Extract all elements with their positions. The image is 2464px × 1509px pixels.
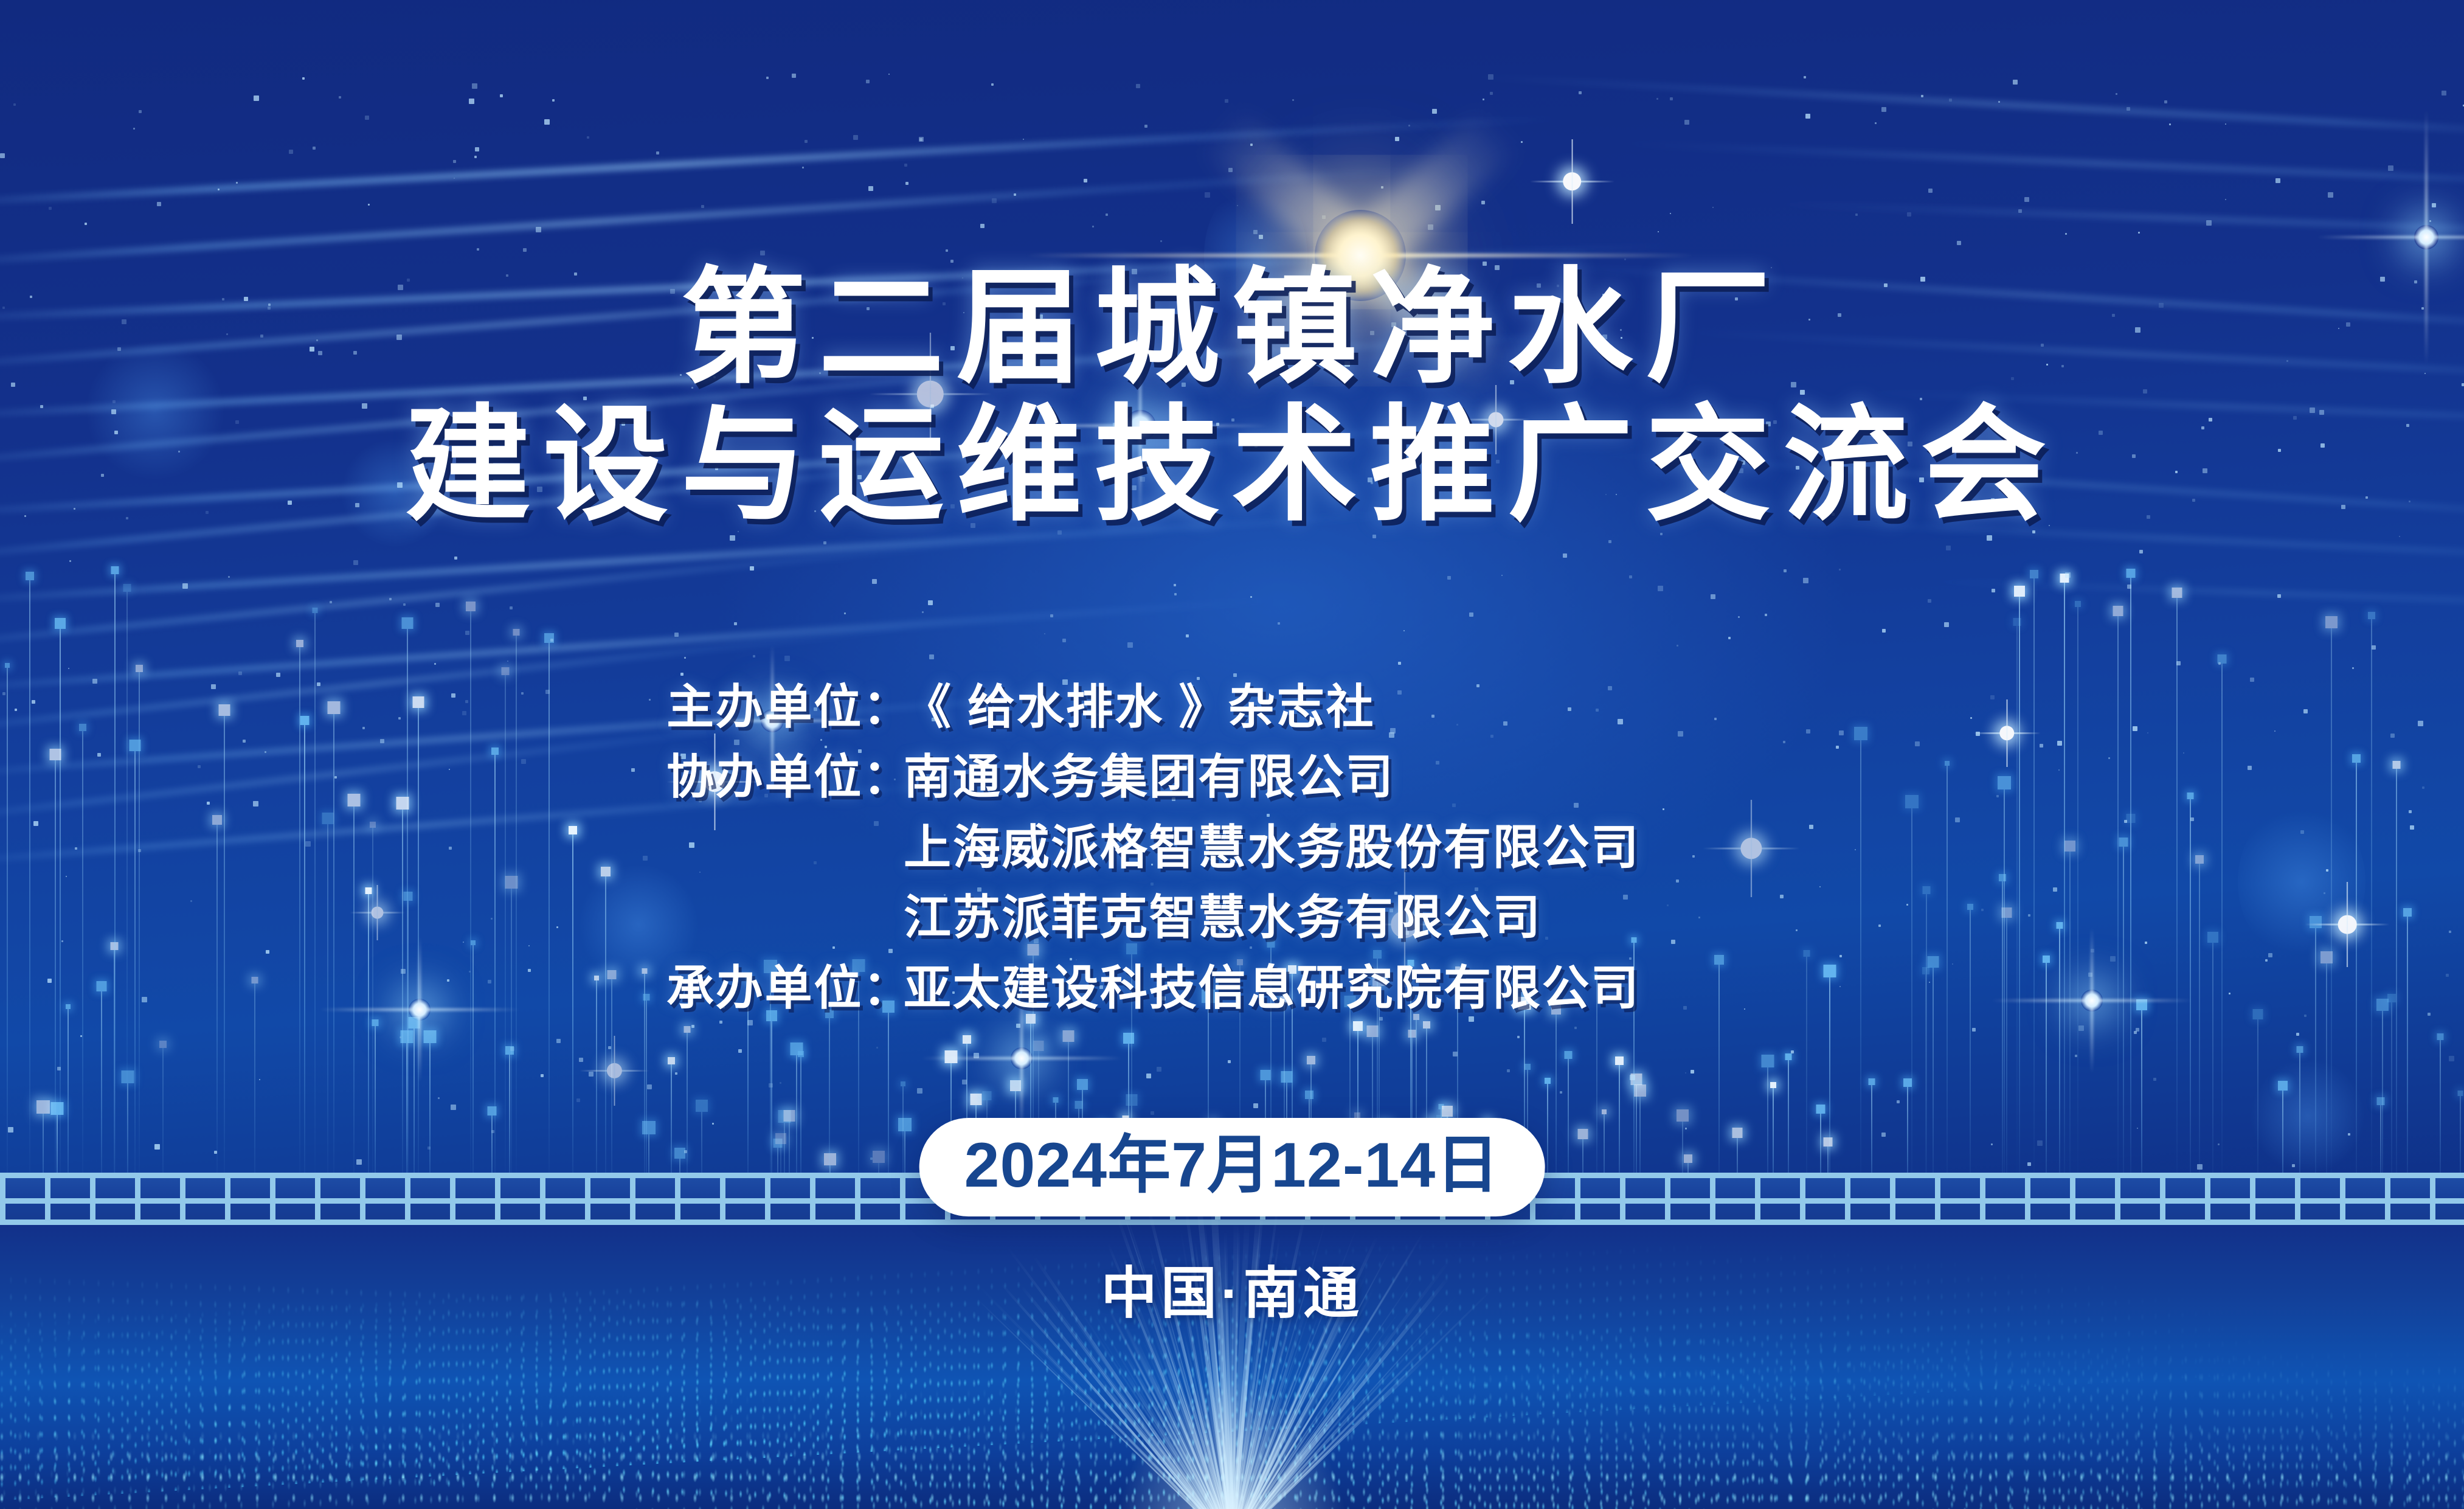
particle (1972, 1028, 1976, 1032)
particle (1521, 141, 1523, 143)
particle (1805, 114, 1810, 119)
particle (2139, 550, 2143, 553)
particle (474, 156, 477, 158)
particle (438, 1097, 440, 1099)
railing-post (540, 1173, 545, 1225)
particle (454, 178, 455, 179)
particle (1044, 633, 1045, 634)
light-pillar (646, 997, 647, 1202)
page-title: 第二届城镇净水厂 建设与运维技术推广交流会 (0, 262, 2464, 532)
particle (1685, 1128, 1687, 1129)
particle (1228, 1060, 1231, 1063)
particle (1629, 575, 1632, 578)
organizer-label (666, 883, 904, 952)
particle (769, 1083, 773, 1088)
particle (469, 99, 474, 104)
particle (1728, 637, 1731, 639)
particle (218, 189, 220, 190)
particle (1174, 584, 1176, 586)
particle (477, 248, 479, 251)
particle (139, 110, 142, 113)
particle (2078, 1025, 2084, 1031)
sparkle-icon (1530, 139, 1614, 224)
particle (738, 1049, 742, 1053)
particle (2116, 93, 2117, 95)
particle (1186, 634, 1189, 637)
particle (922, 611, 924, 613)
particle (2352, 667, 2354, 669)
light-streak (1915, 578, 2464, 607)
organizer-row: 江苏派菲克智慧水务有限公司 (666, 883, 1798, 952)
organizer-row: 协办单位： 南通水务集团有限公司 (666, 742, 1798, 812)
particle (853, 135, 858, 140)
particle (870, 1157, 873, 1160)
organizer-label: 主办单位： (666, 672, 904, 742)
organizer-value: 南通水务集团有限公司 (904, 742, 1798, 812)
railing-post (855, 1173, 860, 1225)
particle (69, 560, 71, 562)
particle (784, 656, 790, 661)
railing-post (2340, 1173, 2345, 1225)
railing-post (405, 1173, 410, 1225)
particle (453, 160, 456, 163)
particle (1803, 578, 1808, 583)
particle (712, 1123, 714, 1125)
particle (2328, 192, 2333, 198)
particle (608, 1046, 611, 1049)
particle (2137, 1128, 2138, 1129)
particle (451, 1105, 456, 1110)
organizers-block: 主办单位： 《 给水排水 》杂志社 协办单位： 南通水务集团有限公司 上海威派格… (0, 672, 2464, 1023)
organizer-label (666, 813, 904, 883)
particle (552, 99, 555, 102)
particle (980, 224, 985, 228)
railing-post (45, 1173, 50, 1225)
particle (2138, 232, 2140, 234)
particle (684, 1150, 687, 1153)
particle (823, 541, 826, 544)
bokeh-blob (2250, 1058, 2365, 1174)
particle (1092, 226, 1094, 227)
particle (587, 136, 589, 139)
particle (802, 167, 804, 168)
railing-post (2160, 1173, 2165, 1225)
particle (1517, 1036, 1520, 1038)
title-line-1: 第二届城镇净水厂 (0, 262, 2464, 394)
particle (1630, 1075, 1635, 1080)
conference-poster: 第二届城镇净水厂 建设与运维技术推广交流会 主办单位： 《 给水排水 》杂志社 … (0, 0, 2464, 1509)
particle (475, 147, 479, 151)
particle (49, 207, 52, 210)
railing-post (810, 1173, 815, 1225)
particle (1157, 1067, 1161, 1072)
particle (0, 153, 5, 158)
railing-post (90, 1173, 95, 1225)
particle (1469, 612, 1473, 617)
particle (2127, 107, 2130, 111)
particle (1259, 235, 1263, 239)
particle (2399, 536, 2400, 537)
particle (1928, 599, 1931, 603)
railing-post (2430, 1173, 2435, 1225)
particle (454, 557, 457, 560)
particle (228, 576, 230, 578)
particle (656, 151, 659, 154)
particle (730, 535, 735, 541)
particle (766, 77, 769, 79)
particle (792, 74, 796, 78)
railing-post (135, 1173, 140, 1225)
railing-post (1890, 1173, 1895, 1225)
particle (675, 1072, 677, 1075)
railing-post (1800, 1173, 1805, 1225)
railing-post (2115, 1173, 2120, 1225)
particle (2027, 1162, 2031, 1166)
railing-post (1935, 1173, 1940, 1225)
particle (2277, 594, 2281, 598)
particle (1136, 84, 1140, 88)
railing-post (1710, 1173, 1715, 1225)
particle (57, 1067, 61, 1070)
particle (2197, 1164, 2203, 1170)
particle (919, 137, 924, 142)
particle (133, 128, 135, 130)
railing-post (270, 1173, 275, 1225)
particle (579, 1058, 583, 1062)
particle (1563, 553, 1567, 558)
particle (434, 663, 436, 665)
railing-post (1845, 1173, 1850, 1225)
particle (946, 249, 948, 252)
particle (1987, 535, 1992, 541)
particle (523, 248, 527, 252)
particle (1435, 205, 1441, 210)
particle (1322, 1038, 1326, 1042)
particle (1490, 92, 1493, 95)
particle (236, 182, 238, 184)
particle (2388, 165, 2393, 171)
railing-post (495, 1173, 500, 1225)
particle (1228, 168, 1233, 172)
particle (2153, 1078, 2156, 1081)
particle (302, 77, 305, 80)
particle (2169, 123, 2171, 125)
particle (556, 1039, 561, 1043)
particle (500, 94, 503, 97)
particle (1998, 101, 2000, 103)
particle (1151, 1111, 1154, 1115)
particle (157, 202, 161, 206)
particle (1205, 192, 1210, 198)
organizer-label: 协办单位： (666, 742, 904, 812)
particle (2275, 178, 2280, 183)
railing-post (450, 1173, 455, 1225)
railing-post (900, 1173, 905, 1225)
railing-post (1620, 1173, 1625, 1225)
particle (1791, 1050, 1794, 1053)
railing-post (2295, 1173, 2300, 1225)
particle (2065, 572, 2071, 578)
organizer-label: 承办单位： (666, 953, 904, 1023)
particle (1579, 91, 1582, 94)
particle (1084, 179, 1087, 182)
particle (1403, 630, 1405, 631)
particle (2442, 91, 2446, 95)
particle (647, 1084, 652, 1089)
particle (1765, 614, 1767, 616)
particle (507, 661, 508, 662)
organizer-value: 江苏派菲克智慧水务有限公司 (904, 883, 1798, 952)
particle (1944, 622, 1949, 627)
particle (1658, 231, 1659, 232)
particle (888, 74, 890, 75)
particle (2292, 1164, 2295, 1167)
particle (1014, 193, 1016, 196)
particle (465, 631, 469, 635)
particle (1483, 99, 1484, 100)
particle (289, 150, 293, 154)
particle (844, 612, 846, 614)
particle (544, 119, 550, 125)
particle (1395, 137, 1399, 141)
railing-post (1755, 1173, 1760, 1225)
particle (905, 182, 908, 185)
particle (313, 147, 316, 150)
particle (805, 140, 808, 143)
particle (1738, 616, 1740, 618)
particle (2127, 585, 2131, 589)
particle (1907, 212, 1911, 217)
particle (1881, 1133, 1886, 1137)
particle (1670, 97, 1673, 100)
particle (1992, 589, 1995, 592)
particle (2225, 199, 2226, 200)
railing-post (1665, 1173, 1670, 1225)
particle (2013, 80, 2018, 85)
particle (1398, 662, 1401, 665)
organizer-row: 承办单位： 亚太建设科技信息研究院有限公司 (666, 953, 1798, 1023)
particle (339, 96, 341, 99)
particle (904, 164, 907, 167)
particle (1292, 99, 1294, 101)
railing-post (225, 1173, 230, 1225)
particle (760, 251, 765, 255)
particle (1928, 189, 1933, 193)
particle (1921, 95, 1923, 97)
particle (1174, 593, 1177, 595)
date-text: 2024年7月12-14日 (964, 1134, 1500, 1197)
railing-post (360, 1173, 365, 1225)
particle (1677, 645, 1678, 647)
particle (1250, 596, 1252, 598)
particle (1278, 622, 1280, 625)
particle (2134, 1031, 2137, 1034)
particle (1804, 76, 1806, 78)
particle (1897, 1100, 1900, 1103)
particle (1658, 586, 1663, 591)
particle (917, 1088, 922, 1094)
light-streak (0, 535, 1023, 650)
particle (353, 560, 358, 565)
railing-post (2385, 1173, 2390, 1225)
particle (1253, 1103, 1258, 1108)
sparkle-icon (580, 1036, 649, 1106)
particle (1447, 576, 1451, 580)
particle (427, 1146, 431, 1150)
particle (85, 223, 87, 225)
particle (1949, 99, 1952, 102)
particle (1106, 213, 1108, 216)
particle (1016, 1024, 1020, 1028)
particle (684, 657, 686, 659)
particle (1453, 1052, 1458, 1056)
particle (536, 227, 541, 232)
particle (13, 103, 16, 106)
particle (1608, 540, 1611, 543)
particle (1250, 144, 1253, 146)
railing-post (315, 1173, 320, 1225)
particle (1784, 569, 1787, 572)
particle (2225, 123, 2226, 125)
particle (2429, 220, 2431, 222)
particle (472, 83, 477, 89)
location-text: 中国·南通 (0, 1248, 2464, 1329)
organizer-value: 亚太建设科技信息研究院有限公司 (904, 953, 1798, 1023)
particle (214, 1151, 217, 1154)
particle (734, 622, 737, 625)
particle (872, 579, 877, 584)
particle (1062, 639, 1066, 642)
particle (1656, 98, 1658, 100)
particle (1146, 1074, 1151, 1078)
railing-post (585, 1173, 590, 1225)
particle (1381, 186, 1383, 189)
particle (750, 566, 754, 571)
particle (510, 1047, 514, 1051)
date-badge: 2024年7月12-14日 (919, 1118, 1545, 1216)
particle (991, 83, 994, 86)
particle (2372, 645, 2376, 650)
particle (2218, 662, 2221, 665)
particle (1225, 99, 1228, 103)
particle (2136, 1028, 2139, 1032)
light-streak (1611, 140, 2464, 187)
particle (691, 1025, 694, 1028)
particle (154, 1144, 160, 1150)
particle (1691, 1070, 1694, 1074)
particle (1428, 224, 1433, 230)
particle (1023, 139, 1024, 140)
particle (2018, 209, 2022, 213)
particle (2024, 197, 2029, 202)
organizer-row: 上海威派格智慧水务股份有限公司 (666, 813, 1798, 883)
railing-post (675, 1173, 680, 1225)
particle (919, 138, 922, 141)
particle (753, 655, 755, 657)
particle (389, 598, 392, 600)
particle (928, 600, 933, 605)
particle (1957, 241, 1961, 245)
railing-post (765, 1173, 770, 1225)
particle (1875, 122, 1877, 124)
particle (2206, 220, 2212, 226)
particle (2348, 1133, 2350, 1136)
particle (1144, 125, 1147, 128)
particle (368, 204, 370, 206)
particle (1050, 614, 1053, 617)
railing-post (0, 1173, 5, 1225)
particle (2296, 1033, 2299, 1036)
particle (589, 1072, 594, 1077)
particle (868, 186, 873, 191)
particle (992, 198, 997, 203)
particle (962, 1080, 967, 1084)
particle (1237, 205, 1238, 206)
particle (1711, 594, 1715, 599)
particle (2432, 203, 2436, 207)
railing-post (1575, 1173, 1580, 1225)
railing-post (2025, 1173, 2030, 1225)
railing-post (720, 1173, 725, 1225)
particle (1882, 629, 1886, 633)
particle (1855, 213, 1858, 216)
particle (780, 1082, 781, 1084)
particle (1991, 1143, 1993, 1145)
particle (68, 668, 69, 669)
particle (1839, 569, 1841, 571)
railing-post (180, 1173, 185, 1225)
particle (1501, 575, 1503, 576)
organizer-value: 《 给水排水 》杂志社 (904, 672, 1798, 742)
particle (1507, 1069, 1510, 1072)
light-pillar (2391, 998, 2392, 1202)
light-streak (1763, 201, 2464, 235)
organizer-row: 主办单位： 《 给水排水 》杂志社 (666, 672, 1798, 742)
title-line-2: 建设与运维技术推广交流会 (0, 399, 2464, 532)
particle (365, 116, 369, 120)
railing-post (2070, 1173, 2075, 1225)
particle (550, 639, 553, 642)
particle (1432, 109, 1437, 114)
particle (1253, 230, 1258, 234)
particle (330, 601, 332, 603)
particle (2065, 233, 2067, 235)
particle (1408, 125, 1410, 127)
particle (1685, 1072, 1686, 1074)
particle (435, 603, 440, 607)
railing-post (2205, 1173, 2210, 1225)
particle (2037, 1140, 2043, 1146)
particle (356, 1159, 362, 1165)
particle (2449, 1056, 2454, 1061)
particle (1946, 546, 1951, 550)
organizer-value: 上海威派格智慧水务股份有限公司 (904, 813, 1798, 883)
particle (182, 583, 188, 589)
particle (8, 1127, 13, 1133)
particle (1712, 207, 1714, 208)
particle (2075, 1055, 2077, 1057)
particle (491, 1130, 494, 1133)
particle (2176, 661, 2181, 665)
particle (1560, 1091, 1562, 1094)
particle (974, 1053, 979, 1058)
particle (1488, 74, 1493, 80)
particle (1684, 120, 1689, 125)
particle (674, 633, 679, 637)
particle (80, 1035, 82, 1037)
particle (701, 205, 704, 208)
particle (403, 603, 406, 606)
